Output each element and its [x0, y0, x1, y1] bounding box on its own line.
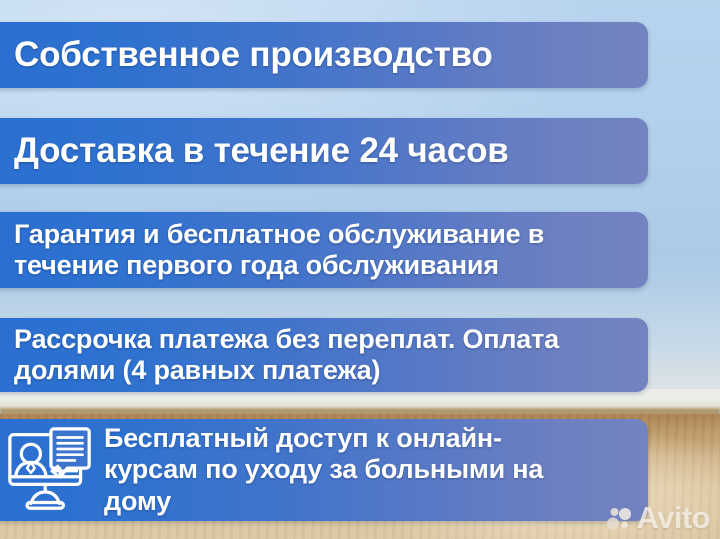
feature-bar-own-production: Собственное производство: [0, 22, 648, 88]
feature-bar-online-courses: Бесплатный доступ к онлайн- курсам по ух…: [0, 419, 648, 521]
feature-bar-delivery: Доставка в течение 24 часов: [0, 118, 648, 184]
feature-bar-warranty-label: Гарантия и бесплатное обслуживание в теч…: [14, 219, 544, 281]
feature-bar-delivery-label: Доставка в течение 24 часов: [14, 133, 509, 169]
feature-bar-own-production-label: Собственное производство: [14, 37, 493, 73]
avito-watermark-label: Avito: [637, 502, 710, 533]
avito-dots-icon: [607, 505, 633, 531]
feature-bar-installments-label: Рассрочка платежа без переплат. Оплата д…: [14, 324, 559, 386]
avito-watermark: Avito: [607, 502, 710, 533]
feature-bar-warranty: Гарантия и бесплатное обслуживание в теч…: [0, 212, 648, 288]
feature-bar-installments: Рассрочка платежа без переплат. Оплата д…: [0, 318, 648, 392]
banner-canvas: Собственное производство Доставка в тече…: [0, 0, 720, 539]
feature-bar-online-courses-label: Бесплатный доступ к онлайн- курсам по ух…: [104, 423, 543, 517]
online-course-monitor-icon: [4, 427, 96, 513]
